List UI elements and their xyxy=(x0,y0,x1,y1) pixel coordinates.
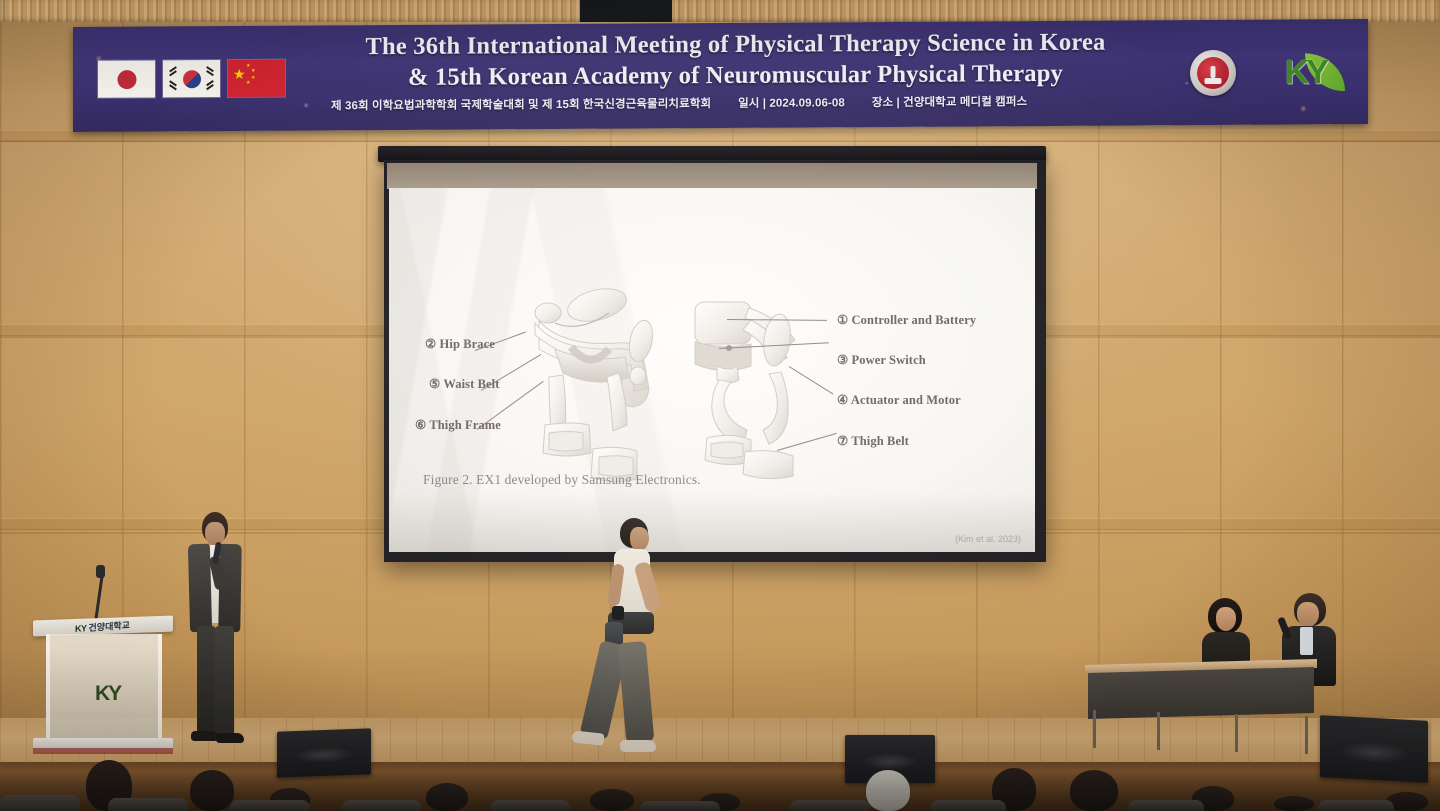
slide-text-actuator: Actuator and Motor xyxy=(851,393,961,407)
slide-marker-1: ① xyxy=(837,313,848,327)
slide-label-waist-belt: ⑤ Waist Belt xyxy=(429,376,500,392)
podium-logo-big: KY xyxy=(95,682,120,706)
banner-title: The 36th International Meeting of Physic… xyxy=(313,26,1158,93)
stage-monitor-right xyxy=(1320,715,1428,783)
slide-marker-7: ⑦ xyxy=(837,434,848,448)
audience-seat-10 xyxy=(1318,800,1394,811)
audience-seat-7 xyxy=(790,800,870,811)
presenter-leg-left xyxy=(197,626,216,734)
presenter-leg-right xyxy=(215,626,234,736)
slide-label-hip-brace: ② Hip Brace xyxy=(425,336,495,352)
flag-south-korea-icon xyxy=(163,60,220,97)
slide-text-hip-brace: Hip Brace xyxy=(440,337,495,351)
podium-logo-small: KY건양대학교 xyxy=(75,618,130,635)
presenter-jacket-left xyxy=(188,544,212,633)
demonstrator xyxy=(572,518,692,773)
demonstrator-shoe-back xyxy=(571,730,604,745)
audience-head-4 xyxy=(426,783,468,811)
wall-band-upper xyxy=(0,130,1440,142)
slide-label-actuator: ④ Actuator and Motor xyxy=(837,392,961,408)
panelist-right-face xyxy=(1297,602,1319,627)
audience-seat-2 xyxy=(108,798,188,811)
flag-group: ★ ★ ★ ★ ★ xyxy=(98,60,285,98)
podium-body: KY xyxy=(46,634,162,738)
slide-marker-5: ⑤ xyxy=(429,377,440,391)
banner-title-line2: & 15th Korean Academy of Neuromuscular P… xyxy=(313,57,1158,93)
audience-seat-8 xyxy=(930,800,1006,811)
panel-table xyxy=(1085,662,1317,750)
slide-figure-caption: Figure 2. EX1 developed by Samsung Elect… xyxy=(423,472,701,488)
conference-banner: ★ ★ ★ ★ ★ The 36th International Meeting… xyxy=(73,19,1368,132)
worn-exoskeleton-controller xyxy=(612,606,624,620)
panel-table-leg-1 xyxy=(1093,710,1096,748)
slide-label-power-switch: ③ Power Switch xyxy=(837,352,926,368)
podium: KY건양대학교 KY xyxy=(33,618,173,754)
audience-seat-9 xyxy=(1128,800,1204,811)
banner-korean-title: 제 36회 이학요법과학학회 국제학술대회 및 제 15회 한국신경근육물리치료… xyxy=(331,95,711,113)
slide-label-thigh-belt: ⑦ Thigh Belt xyxy=(837,433,909,449)
slide-label-controller: ① Controller and Battery xyxy=(837,312,976,328)
ky-university-logo-icon: KY xyxy=(1285,51,1326,93)
audience-head-2 xyxy=(190,770,234,811)
audience-seat-1 xyxy=(0,795,80,811)
slide-marker-2: ② xyxy=(425,337,436,351)
slide-marker-4: ④ xyxy=(837,393,848,407)
presenter xyxy=(178,512,248,762)
panel-table-leg-2 xyxy=(1157,712,1160,750)
exoskeleton-front-view xyxy=(519,283,709,483)
banner-title-line1: The 36th International Meeting of Physic… xyxy=(313,26,1158,62)
panelist-right-shirt xyxy=(1300,627,1313,655)
demonstrator-shoe-front xyxy=(620,740,656,752)
screen-bottom-shading xyxy=(389,492,1035,552)
podium-base-strip xyxy=(33,748,173,754)
slide-marker-3: ③ xyxy=(837,353,848,367)
panelist-left-face xyxy=(1216,607,1236,631)
exoskeleton-side-view xyxy=(689,286,829,486)
audience-seat-3 xyxy=(230,800,310,811)
screen-dead-band xyxy=(387,163,1037,189)
projection-screen: ② Hip Brace ⑤ Waist Belt ⑥ Thigh Frame ①… xyxy=(389,188,1035,552)
association-seal-logo-icon xyxy=(1190,50,1236,96)
conference-photo: ★ ★ ★ ★ ★ The 36th International Meeting… xyxy=(0,0,1440,811)
stage-monitor-left xyxy=(277,728,371,777)
slide-citation: (Kim et al. 2023) xyxy=(955,534,1021,544)
presenter-shoe-right xyxy=(216,733,244,743)
slide-text-power-switch: Power Switch xyxy=(852,353,926,367)
flag-china-icon: ★ ★ ★ ★ ★ xyxy=(228,60,285,97)
demonstrator-face xyxy=(630,527,649,551)
demonstrator-leg-front xyxy=(618,641,655,743)
podium-logo-small-korean: 건양대학교 xyxy=(89,620,130,633)
audience-head-7 xyxy=(866,770,910,811)
audience-head-5 xyxy=(590,789,634,811)
slide-text-waist-belt: Waist Belt xyxy=(443,377,499,391)
slide-label-thigh-frame: ⑥ Thigh Frame xyxy=(415,417,501,433)
slide-text-thigh-belt: Thigh Belt xyxy=(851,434,909,448)
panel-table-skirt xyxy=(1088,667,1314,719)
banner-date: 일시 | 2024.09.06-08 xyxy=(738,94,845,111)
presenter-shoe-left xyxy=(191,731,218,741)
banner-venue: 장소 | 건양대학교 메디컬 캠퍼스 xyxy=(872,93,1027,110)
podium-logo-small-ky: KY xyxy=(75,623,87,634)
audience-seat-6 xyxy=(640,801,720,811)
audience-seat-5 xyxy=(490,800,570,811)
audience-head-11 xyxy=(1274,796,1314,811)
audience-seat-4 xyxy=(342,800,422,811)
banner-subtitle-row: 제 36회 이학요법과학학회 국제학술대회 및 제 15회 한국신경근육물리치료… xyxy=(331,92,1231,113)
slide-text-thigh-frame: Thigh Frame xyxy=(429,418,501,432)
slide-marker-6: ⑥ xyxy=(415,418,426,432)
panel-table-leg-3 xyxy=(1235,714,1238,752)
panel-table-leg-4 xyxy=(1305,716,1308,754)
flag-japan-icon xyxy=(98,60,155,97)
slide-text-controller: Controller and Battery xyxy=(852,313,977,327)
audience-head-9 xyxy=(1070,770,1118,811)
